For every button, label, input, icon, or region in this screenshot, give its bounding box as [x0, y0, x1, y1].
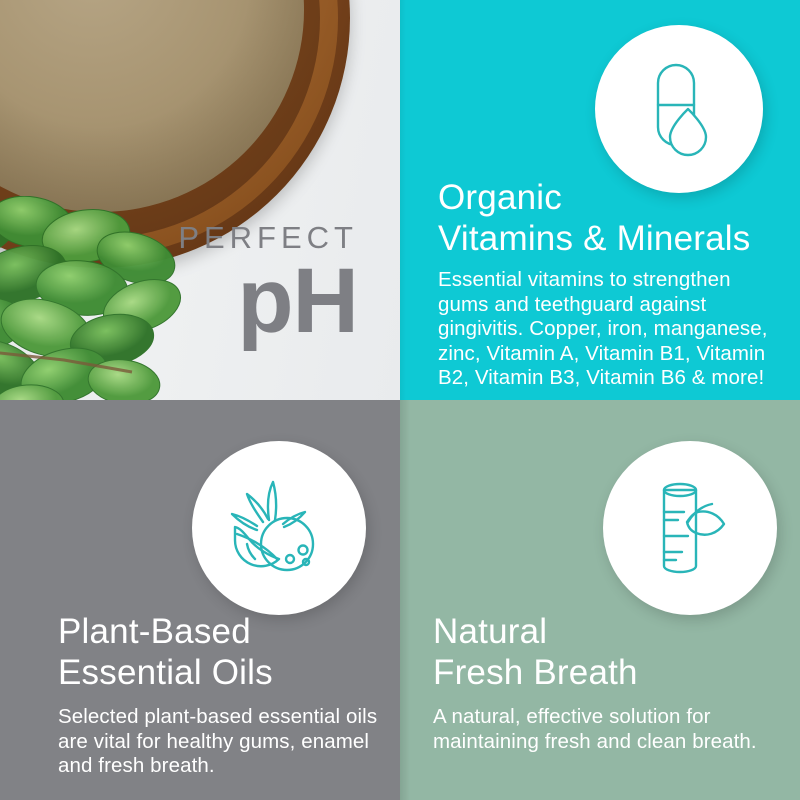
icon-badge-capsule	[595, 25, 763, 193]
mint-leaves-svg	[0, 196, 206, 400]
feature-heading-line2: Essential Oils	[58, 653, 378, 694]
icon-badge-coconut	[192, 441, 366, 615]
brand-photo-panel: PERFECT pH	[0, 0, 400, 400]
feature-heading: Organic Vitamins & Minerals	[438, 178, 788, 260]
seeds-shading	[0, 0, 304, 212]
feature-body: Selected plant-based essential oils are …	[58, 705, 383, 779]
feature-heading-line2: Fresh Breath	[433, 653, 763, 694]
mint-leaves-image	[0, 196, 206, 400]
feature-heading-line1: Organic	[438, 178, 788, 219]
capsule-droplet-icon	[636, 61, 722, 157]
perfect-ph-lockup: PERFECT pH	[178, 222, 358, 345]
perfect-kicker: PERFECT	[178, 222, 358, 253]
feature-plant-based-essential-oils: Plant-Based Essential Oils Selected plan…	[0, 400, 400, 800]
feature-heading-line2: Vitamins & Minerals	[438, 219, 788, 260]
feature-grid: PERFECT pH Organic Vitamins & Minerals E…	[0, 0, 800, 800]
feature-body: A natural, effective solution for mainta…	[433, 705, 773, 754]
icon-badge-bamboo	[603, 441, 777, 615]
coconut-palm-leaves-icon	[227, 480, 331, 576]
feature-organic-vitamins-minerals: Organic Vitamins & Minerals Essential vi…	[400, 0, 800, 400]
sunflower-seeds-image	[0, 0, 304, 212]
feature-heading-line1: Plant-Based	[58, 612, 378, 653]
feature-body: Essential vitamins to strengthen gums an…	[438, 268, 786, 391]
feature-heading-line1: Natural	[433, 612, 763, 653]
bamboo-stalk-leaf-icon	[642, 478, 738, 578]
ph-wordmark: pH	[178, 257, 358, 345]
feature-natural-fresh-breath: Natural Fresh Breath A natural, effectiv…	[400, 400, 800, 800]
feature-heading: Natural Fresh Breath	[433, 612, 763, 694]
feature-heading: Plant-Based Essential Oils	[58, 612, 378, 694]
